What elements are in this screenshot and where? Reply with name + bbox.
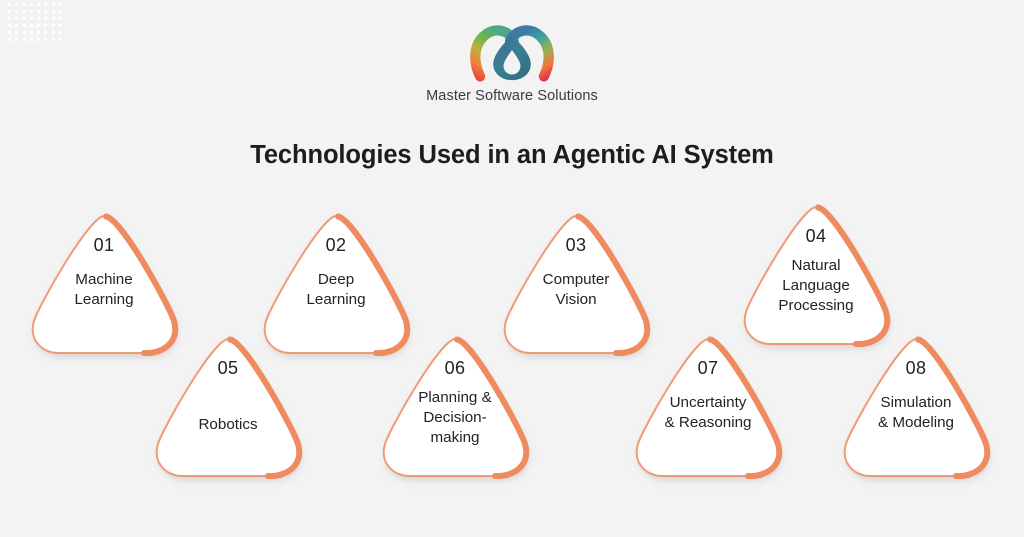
triangle-shape: [632, 335, 784, 480]
technology-card-05[interactable]: 05Robotics: [152, 335, 304, 480]
technology-cards: 01MachineLearning02DeepLearning03Compute…: [0, 0, 1024, 537]
technology-card-04[interactable]: 04NaturalLanguageProcessing: [740, 203, 892, 348]
triangle-shape: [740, 203, 892, 348]
technology-card-08[interactable]: 08Simulation& Modeling: [840, 335, 992, 480]
triangle-shape: [152, 335, 304, 480]
triangle-shape: [379, 335, 531, 480]
infographic-canvas: Master Software Solutions Technologies U…: [0, 0, 1024, 537]
technology-card-06[interactable]: 06Planning &Decision-making: [379, 335, 531, 480]
triangle-shape: [840, 335, 992, 480]
technology-card-07[interactable]: 07Uncertainty& Reasoning: [632, 335, 784, 480]
